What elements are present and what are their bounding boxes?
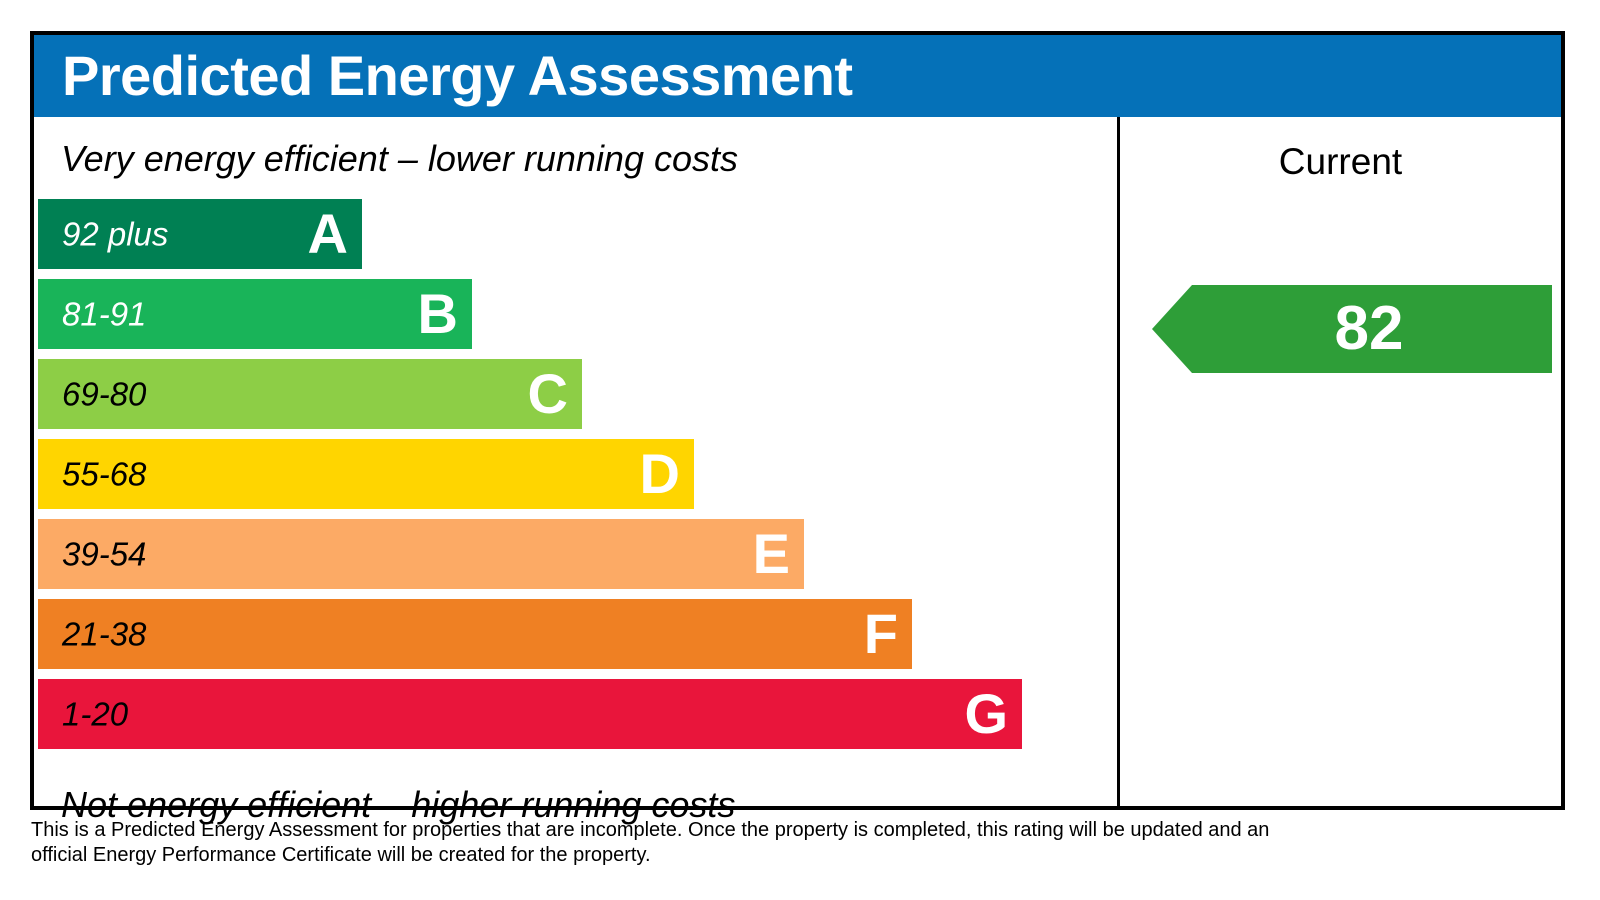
band-range-label: 39-54: [62, 538, 146, 571]
band-bar-c: 69-80C: [38, 359, 582, 429]
band-range-label: 69-80: [62, 378, 146, 411]
current-rating-value: 82: [1152, 285, 1552, 373]
band-letter-label: C: [528, 366, 568, 422]
band-letter-label: F: [864, 606, 898, 662]
band-range-label: 21-38: [62, 618, 146, 651]
title-bar: Predicted Energy Assessment: [34, 35, 1561, 117]
band-bar-e: 39-54E: [38, 519, 804, 589]
band-letter-label: E: [753, 526, 790, 582]
energy-band-chart: Very energy efficient – lower running co…: [34, 117, 1117, 806]
caption-very-efficient: Very energy efficient – lower running co…: [61, 141, 738, 177]
band-bar-f: 21-38F: [38, 599, 912, 669]
current-rating-column: Current 82: [1120, 117, 1561, 806]
band-row: 69-80C: [34, 357, 1117, 437]
band-bar-d: 55-68D: [38, 439, 694, 509]
footer-note: This is a Predicted Energy Assessment fo…: [31, 818, 1281, 868]
band-row: 55-68D: [34, 437, 1117, 517]
current-column-heading: Current: [1120, 143, 1561, 180]
certificate-body: Very energy efficient – lower running co…: [34, 117, 1561, 806]
band-row-list: 92 plusA81-91B69-80C55-68D39-54E21-38F1-…: [34, 197, 1117, 757]
energy-performance-certificate: Predicted Energy Assessment Very energy …: [0, 0, 1600, 900]
band-range-label: 55-68: [62, 458, 146, 491]
band-row: 81-91B: [34, 277, 1117, 357]
band-range-label: 92 plus: [62, 218, 168, 251]
band-range-label: 1-20: [62, 698, 128, 731]
current-rating-arrow: 82: [1152, 285, 1552, 373]
certificate-box: Predicted Energy Assessment Very energy …: [30, 31, 1565, 810]
page-title: Predicted Energy Assessment: [62, 48, 853, 104]
band-row: 39-54E: [34, 517, 1117, 597]
band-letter-label: G: [964, 686, 1008, 742]
band-row: 1-20G: [34, 677, 1117, 757]
band-letter-label: A: [308, 206, 348, 262]
band-bar-b: 81-91B: [38, 279, 472, 349]
band-row: 92 plusA: [34, 197, 1117, 277]
band-bar-g: 1-20G: [38, 679, 1022, 749]
band-bar-a: 92 plusA: [38, 199, 362, 269]
band-letter-label: B: [418, 286, 458, 342]
band-range-label: 81-91: [62, 298, 146, 331]
band-letter-label: D: [640, 446, 680, 502]
band-row: 21-38F: [34, 597, 1117, 677]
